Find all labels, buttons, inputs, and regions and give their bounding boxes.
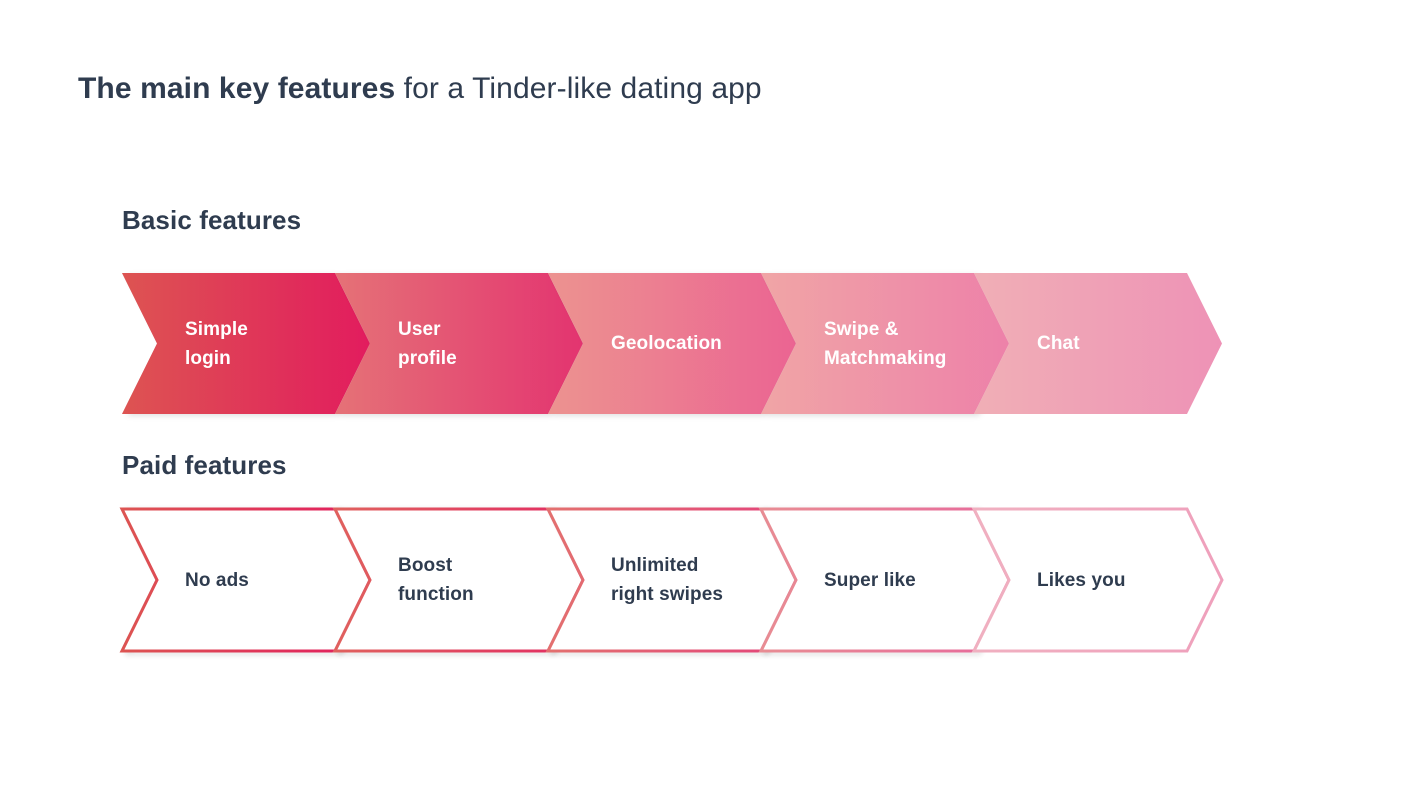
chevron-label: Boost function bbox=[398, 551, 474, 609]
chevron-label: Super like bbox=[824, 566, 916, 595]
page-title: The main key features for a Tinder-like … bbox=[78, 68, 762, 110]
section-heading-basic: Basic features bbox=[122, 205, 301, 236]
chevron-filled[interactable] bbox=[974, 273, 1222, 414]
chevron-label: Likes you bbox=[1037, 566, 1126, 595]
chevron-label: Chat bbox=[1037, 329, 1080, 358]
chevron-label: Geolocation bbox=[611, 329, 722, 358]
chevron-label: Simple login bbox=[185, 315, 248, 373]
chevron-label: Unlimited right swipes bbox=[611, 551, 723, 609]
slide-canvas: The main key features for a Tinder-like … bbox=[0, 0, 1402, 802]
page-title-bold: The main key features bbox=[78, 72, 395, 105]
chevron-label: No ads bbox=[185, 566, 249, 595]
page-title-rest: for a Tinder-like dating app bbox=[395, 72, 761, 105]
chevron-label: Swipe & Matchmaking bbox=[824, 315, 947, 373]
chevron-filled[interactable] bbox=[335, 273, 583, 414]
chevron-label: User profile bbox=[398, 315, 457, 373]
basic-features-chevron-row: Simple loginUser profileGeolocationSwipe… bbox=[0, 0, 1402, 802]
section-heading-paid: Paid features bbox=[122, 450, 287, 481]
basic-chevrons-svg bbox=[0, 0, 1402, 802]
